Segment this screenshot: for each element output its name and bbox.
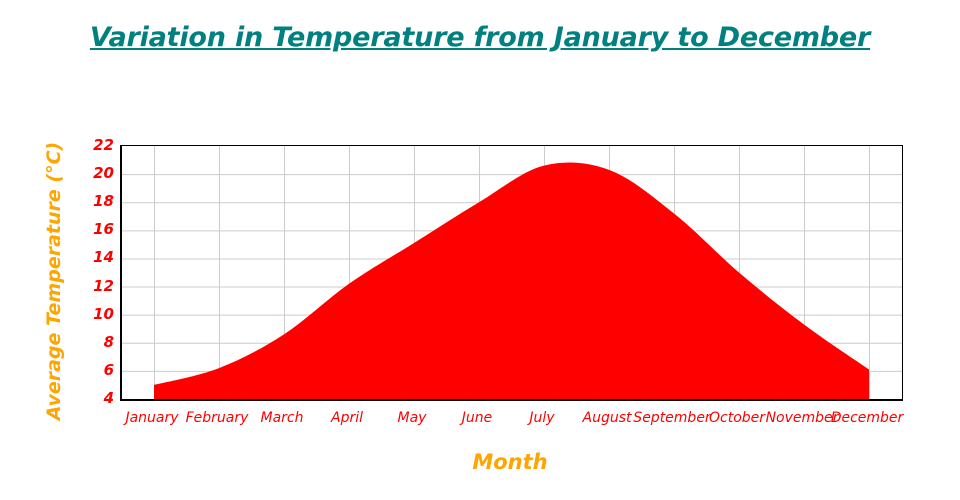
x-axis-title: Month [120, 450, 900, 474]
y-tick-label: 10 [78, 305, 114, 323]
y-tick-label: 16 [78, 220, 114, 238]
x-tick-label-january: January [125, 410, 178, 426]
x-tick-label-july: July [529, 410, 554, 426]
y-tick-label: 8 [78, 333, 114, 351]
plot-area [120, 145, 903, 401]
y-axis-title: Average Temperature (°C) [43, 141, 65, 421]
y-tick-label: 20 [78, 164, 114, 182]
y-tick-label: 22 [78, 136, 114, 154]
x-tick-label-october: October [709, 410, 765, 426]
x-tick-label-november: November [766, 410, 839, 426]
y-tick-label: 6 [78, 361, 114, 379]
y-tick-label: 14 [78, 248, 114, 266]
temperature-area-series [122, 146, 902, 399]
x-tick-label-february: February [186, 410, 249, 426]
y-tick-label: 12 [78, 277, 114, 295]
x-tick-label-may: May [398, 410, 427, 426]
y-tick-label: 18 [78, 192, 114, 210]
x-tick-label-march: March [261, 410, 304, 426]
x-tick-label-september: September [633, 410, 710, 426]
x-tick-label-december: December [831, 410, 904, 426]
x-tick-label-april: April [331, 410, 363, 426]
chart-title: Variation in Temperature from January to… [0, 22, 960, 53]
x-tick-label-june: June [462, 410, 493, 426]
temperature-area-chart: Variation in Temperature from January to… [0, 0, 960, 500]
x-tick-label-august: August [583, 410, 632, 426]
y-tick-label: 4 [78, 389, 114, 407]
